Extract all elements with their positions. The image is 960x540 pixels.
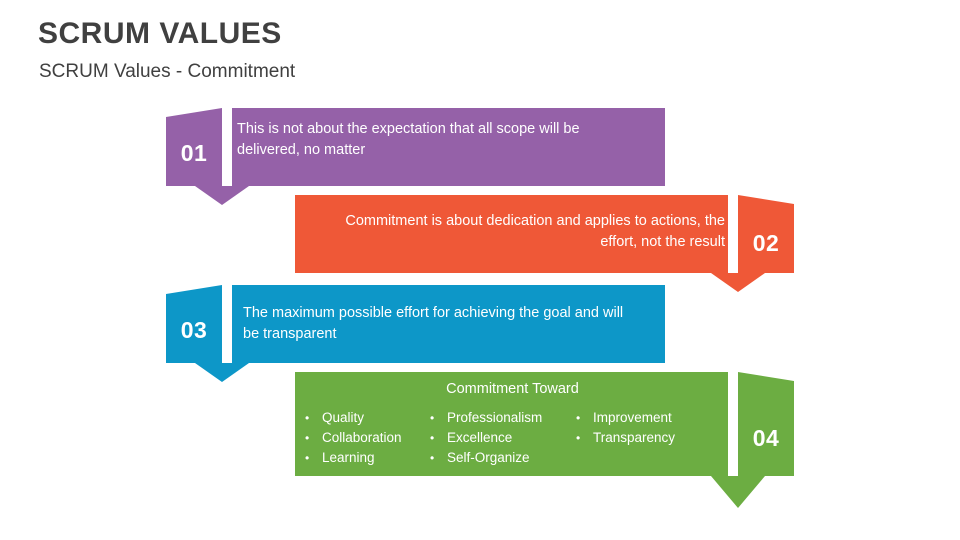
list-item[interactable]: • Transparency bbox=[576, 428, 716, 448]
list-item[interactable]: • Excellence bbox=[430, 428, 576, 448]
list-item-label: Collaboration bbox=[322, 428, 402, 447]
row-03-text: The maximum possible effort for achievin… bbox=[243, 303, 633, 345]
row-01-text: This is not about the expectation that a… bbox=[237, 119, 617, 161]
list-item[interactable]: • Self-Organize bbox=[430, 448, 576, 468]
list-item-label: Transparency bbox=[593, 428, 675, 447]
list-item-label: Learning bbox=[322, 448, 375, 467]
list-item-label: Excellence bbox=[447, 428, 512, 447]
list-item-label: Self-Organize bbox=[447, 448, 530, 467]
list-item-label: Professionalism bbox=[447, 408, 542, 427]
list-item[interactable]: • Improvement bbox=[576, 408, 716, 428]
row-02-number: 02 bbox=[738, 230, 794, 257]
bullet-dot-icon: • bbox=[430, 429, 447, 448]
row-04-number: 04 bbox=[738, 425, 794, 452]
commitment-toward-list: • Quality • Collaboration • Learning • P… bbox=[305, 408, 716, 468]
list-item[interactable]: • Quality bbox=[305, 408, 430, 428]
slide-canvas: SCRUM VALUES SCRUM Values - Commitment 0… bbox=[0, 0, 960, 540]
bullet-dot-icon: • bbox=[305, 429, 322, 448]
bullet-dot-icon: • bbox=[576, 409, 593, 428]
list-item-label: Quality bbox=[322, 408, 364, 427]
bullet-column-3: • Improvement • Transparency bbox=[576, 408, 716, 468]
list-item-label: Improvement bbox=[593, 408, 672, 427]
page-title: SCRUM VALUES bbox=[38, 17, 282, 51]
row-03-number: 03 bbox=[166, 317, 222, 344]
row-04-heading: Commitment Toward bbox=[300, 379, 725, 399]
bullet-dot-icon: • bbox=[305, 409, 322, 428]
bullet-dot-icon: • bbox=[430, 449, 447, 468]
bullet-dot-icon: • bbox=[305, 449, 322, 468]
list-item[interactable]: • Learning bbox=[305, 448, 430, 468]
row-02-text: Commitment is about dedication and appli… bbox=[330, 211, 725, 253]
page-subtitle: SCRUM Values - Commitment bbox=[39, 61, 295, 83]
list-item[interactable]: • Professionalism bbox=[430, 408, 576, 428]
bullet-column-2: • Professionalism • Excellence • Self-Or… bbox=[430, 408, 576, 468]
list-item[interactable]: • Collaboration bbox=[305, 428, 430, 448]
row-01-number: 01 bbox=[166, 140, 222, 167]
bullet-dot-icon: • bbox=[576, 429, 593, 448]
bullet-column-1: • Quality • Collaboration • Learning bbox=[305, 408, 430, 468]
bullet-dot-icon: • bbox=[430, 409, 447, 428]
